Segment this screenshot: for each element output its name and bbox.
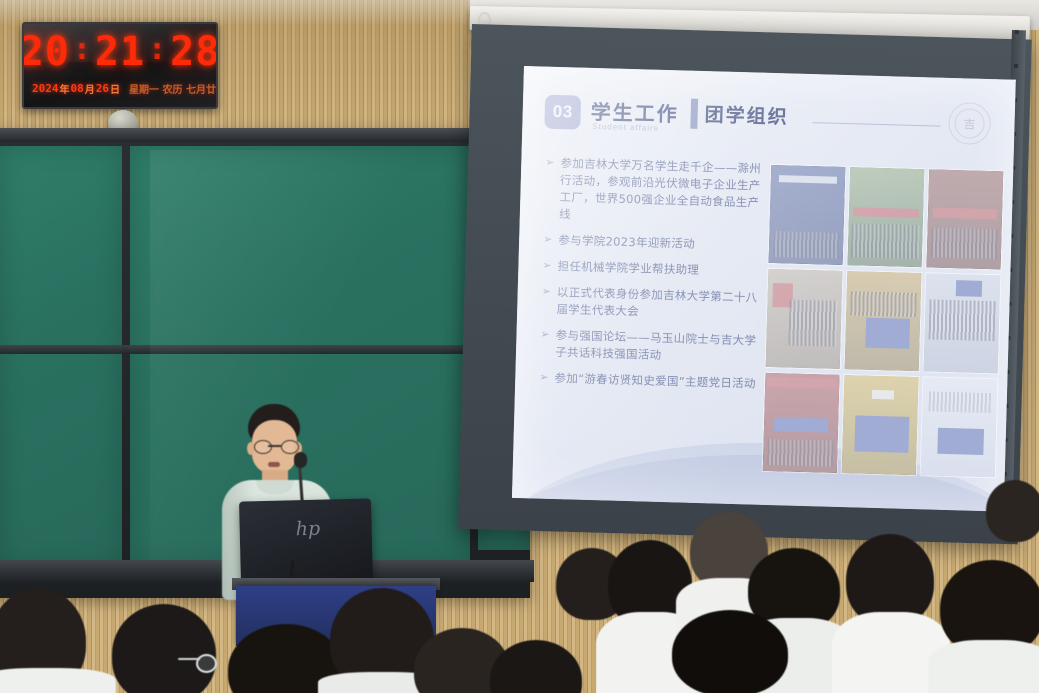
slide-title-divider [690,99,698,129]
slide-photo [845,271,922,371]
clock-hours: 20 [22,29,70,75]
bullet-text: 参与强国论坛——马玉山院士与吉大学子共话科技强国活动 [555,327,759,367]
seal-character: 吉 [963,115,975,132]
list-item: ➢ 担任机械学院学业帮扶助理 [542,258,760,281]
slide-photo [766,269,843,369]
clock-date-display: 2024 年 08 月 26 日 星期一 农历 七月廿三 [32,77,208,99]
presenter-mouth [268,462,280,467]
bullet-arrow-icon: ➢ [541,284,551,318]
clock-lunar-info: 星期一 农历 七月廿三 [129,81,218,96]
bullet-text: 参与学院2023年迎新活动 [558,232,695,253]
clock-year-unit: 年 [60,81,70,96]
blackboard-top-rail [0,128,530,142]
bullet-arrow-icon: ➢ [542,258,552,275]
bullet-arrow-icon: ➢ [544,155,555,223]
clock-separator-1: : [73,32,92,67]
audience-shirt [928,640,1039,693]
clock-seconds: 28 [170,29,218,75]
audience-head [672,610,788,693]
clock-month-unit: 月 [85,81,95,96]
computer-monitor[interactable]: hp [239,498,373,585]
bullet-arrow-icon: ➢ [543,232,553,249]
audience-head [986,480,1039,542]
list-item: ➢ 参与强国论坛——马玉山院士与吉大学子共话科技强国活动 [540,327,759,367]
audience-head [112,604,216,693]
bullet-text: 担任机械学院学业帮扶助理 [557,258,699,279]
slide-bullet-list: ➢ 参加吉林大学万名学生走千企——滁州行活动，参观前沿光伏微电子企业生产工厂，世… [539,155,764,402]
bullet-arrow-icon: ➢ [540,327,550,361]
slide-title-english: Student affairs [592,122,659,133]
photo-row-3 [763,373,1000,477]
glasses-arm-icon [178,658,200,660]
list-item: ➢ 参加“游春访贤知史爱国”主题党日活动 [539,370,757,393]
slide-photo [848,167,925,267]
slide-header: 03 学生工作 Student affairs 团学组织 吉 [544,93,997,152]
photo-row-1 [769,165,1006,269]
microphone-icon [294,452,307,468]
photo-row-2 [766,269,1003,373]
presentation-slide: 03 学生工作 Student affairs 团学组织 吉 ➢ 参加吉林大学万… [512,66,1016,512]
clock-month: 08 [71,82,84,95]
slide-photo-grid [763,165,1006,483]
clock-separator-2: : [148,32,167,67]
bullet-text: 参加“游春访贤知史爱国”主题党日活动 [554,370,756,393]
glasses-bridge-icon [268,445,281,447]
hp-logo-icon: hp [295,518,320,541]
clock-time-display: 20 : 21 : 28 [24,28,216,76]
lecture-hall-scene: 20 : 21 : 28 2024 年 08 月 26 日 星期一 农历 七月廿… [0,0,1039,693]
slide-section-number: 03 [544,95,581,130]
list-item: ➢ 参与学院2023年迎新活动 [543,232,761,255]
bullet-text: 参加吉林大学万名学生走千企——滁州行活动，参观前沿光伏微电子企业生产工厂，世界5… [559,155,764,229]
slide-photo [921,377,998,477]
slide-photo [842,375,919,475]
blackboard-panel-left [0,146,122,566]
clock-year: 2024 [32,82,59,95]
digital-wall-clock: 20 : 21 : 28 2024 年 08 月 26 日 星期一 农历 七月廿… [22,22,218,109]
slide-photo [763,373,840,473]
bullet-text: 以正式代表身份参加吉林大学第二十八届学生代表大会 [556,284,760,324]
slide-photo [769,165,846,265]
slide-photo [924,273,1001,373]
clock-day: 26 [96,82,109,95]
glasses-lens-icon [196,654,217,673]
list-item: ➢ 参加吉林大学万名学生走千企——滁州行活动，参观前沿光伏微电子企业生产工厂，世… [544,155,764,229]
bullet-arrow-icon: ➢ [539,370,549,387]
slide-header-rule [813,122,941,127]
glasses-lens-left-icon [254,440,272,454]
clock-day-unit: 日 [110,81,120,96]
university-seal-icon: 吉 [948,102,991,145]
audience-shirt [0,668,116,693]
list-item: ➢ 以正式代表身份参加吉林大学第二十八届学生代表大会 [541,284,760,324]
blackboard-middle-rail [0,345,478,354]
slide-photo [927,169,1004,269]
slide-subtitle: 团学组织 [704,100,789,129]
clock-minutes: 21 [95,29,145,75]
